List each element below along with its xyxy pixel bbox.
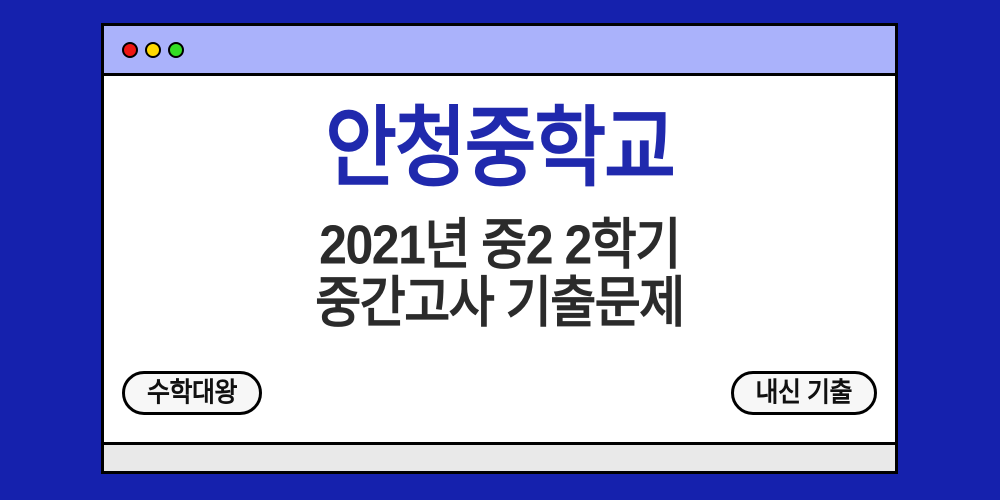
window-controls: [122, 42, 184, 58]
close-dot-icon[interactable]: [122, 42, 138, 58]
maximize-dot-icon[interactable]: [168, 42, 184, 58]
exam-subtitle-block: 2021년 중2 2학기 중간고사 기출문제: [104, 216, 895, 332]
window-content: 안청중학교 2021년 중2 2학기 중간고사 기출문제 수학대왕 내신 기출: [104, 76, 895, 442]
window-statusbar: [104, 442, 895, 471]
brand-badge[interactable]: 수학대왕: [122, 371, 262, 415]
browser-window-mockup: 안청중학교 2021년 중2 2학기 중간고사 기출문제 수학대왕 내신 기출: [101, 23, 898, 474]
category-badge-label: 내신 기출: [756, 380, 852, 407]
brand-badge-label: 수학대왕: [147, 380, 237, 407]
window-titlebar: [104, 26, 895, 76]
exam-subtitle-line-1: 2021년 중2 2학기: [104, 213, 895, 277]
school-title: 안청중학교: [104, 104, 895, 191]
poster-canvas: 안청중학교 2021년 중2 2학기 중간고사 기출문제 수학대왕 내신 기출: [0, 0, 1000, 500]
category-badge[interactable]: 내신 기출: [731, 371, 877, 415]
exam-subtitle-line-2: 중간고사 기출문제: [104, 271, 895, 335]
minimize-dot-icon[interactable]: [145, 42, 161, 58]
